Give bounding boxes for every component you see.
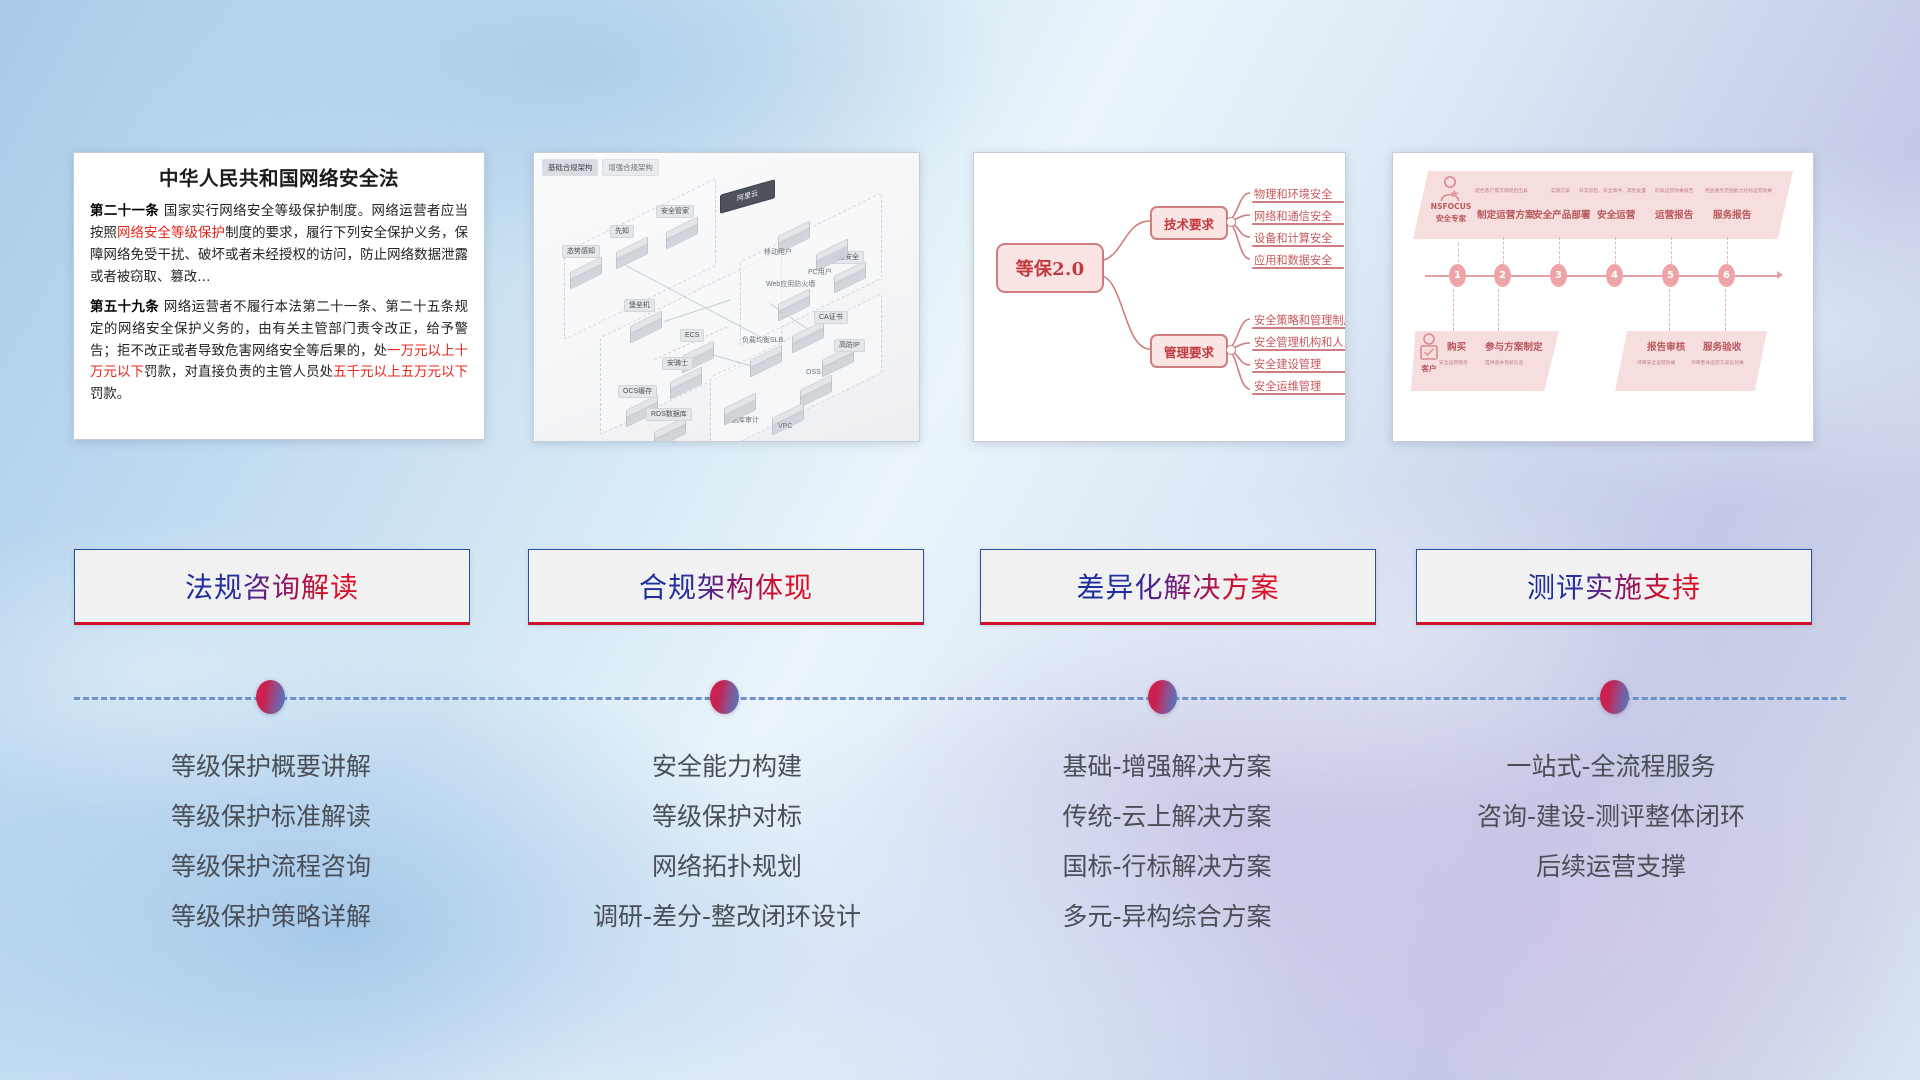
detail-item: 后续运营支撑 (1396, 842, 1826, 892)
mind-branch-technical: 技术要求 (1150, 206, 1228, 240)
arch-label-mobile-user: 移动用户 (760, 247, 796, 258)
arch-node-mobile-user (778, 225, 808, 247)
arch-node-content-security (834, 265, 864, 287)
mind-leaf-construction-mgmt: 安全建设管理 (1254, 356, 1321, 372)
card-law-text: 中华人民共和国网络安全法 第二十一条 国家实行网络安全等级保护制度。网络运营者应… (73, 152, 485, 440)
arch-node-slb (750, 349, 780, 371)
law-article-59: 第五十九条 网络运营者不履行本法第二十一条、第二十五条规定的网络安全保护义务的，… (90, 297, 468, 406)
nsf-tick-b1 (1453, 289, 1454, 331)
expert-brand-label: NSFOCUS (1423, 203, 1479, 212)
headline-box-assessment-support[interactable]: 测评实施支持 (1416, 549, 1812, 625)
nsf-tick-b6 (1725, 289, 1726, 331)
mind-leaf-network-comm: 网络和通信安全 (1254, 208, 1332, 224)
mind-leafline-ops-mgmt (1252, 393, 1346, 395)
arch-label-anqishi: 安骑士 (662, 357, 693, 370)
detail-item: 咨询-建设-测评整体闭环 (1396, 792, 1826, 842)
customer-role-label: 客户 (1415, 365, 1443, 374)
law-article-59-part3: 罚款。 (90, 387, 130, 402)
detail-item: 国标-行标解决方案 (952, 842, 1382, 892)
nsf-top-title-5: 服务报告 (1713, 207, 1751, 221)
nsf-step-1: 1 (1449, 264, 1466, 287)
arch-node-rds (654, 421, 684, 442)
mind-leafline-construction-mgmt (1252, 371, 1346, 373)
mind-leaf-policy-system: 安全策略和管理制度 (1254, 312, 1346, 328)
nsf-top-title-2: 安全产品部署 (1533, 207, 1591, 221)
arch-node-db-audit (724, 397, 754, 419)
headline-label-assessment-support: 测评实施支持 (1527, 566, 1701, 606)
card-nsfocus-timeline: NSFOCUS 安全专家 客户 1 2 3 4 5 6 结合客户需求调研后出具 … (1392, 152, 1814, 442)
arch-label-slb: 负载均衡SLB (738, 335, 787, 346)
nsf-bottom-note-2: 提供基本现状信息 (1485, 359, 1523, 366)
arch-node-bastion-host (630, 315, 660, 337)
mind-leafline-app-data (1252, 267, 1344, 269)
mind-leafline-physical-env (1252, 201, 1344, 203)
mind-collapse-dot-technical (1226, 217, 1236, 227)
law-article-59-label: 第五十九条 (90, 300, 159, 315)
detail-item: 等级保护对标 (512, 792, 942, 842)
detail-column-regulation-consulting: 等级保护概要讲解 等级保护标准解读 等级保护流程咨询 等级保护策略详解 (56, 742, 486, 942)
law-article-21: 第二十一条 国家实行网络安全等级保护制度。网络运营者应当按照网络安全等级保护制度… (90, 201, 468, 288)
mind-leaf-device-compute: 设备和计算安全 (1254, 230, 1332, 246)
timeline-dot-4 (1600, 680, 1629, 714)
mind-leafline-network-comm (1252, 223, 1344, 225)
arch-tab-basic[interactable]: 基础合规架构 (542, 159, 598, 176)
timeline-dot-2 (710, 680, 739, 714)
mind-leaf-app-data: 应用和数据安全 (1254, 252, 1332, 268)
arch-label-aliyun: 阿里云 (720, 179, 775, 214)
arch-node-situational-awareness (570, 261, 600, 283)
detail-item: 一站式-全流程服务 (1396, 742, 1826, 792)
arch-tab-enhanced[interactable]: 增强合规架构 (602, 159, 658, 176)
headline-label-differentiated-solution: 差异化解决方案 (1076, 566, 1279, 606)
detail-column-differentiated-solution: 基础-增强解决方案 传统-云上解决方案 国标-行标解决方案 多元-异构综合方案 (952, 742, 1382, 942)
arch-label-situational-awareness: 态势感知 (562, 245, 600, 258)
timeline-dot-3 (1148, 680, 1177, 714)
arch-label-ocs-cache: OCS缓存 (618, 385, 657, 398)
arch-node-anqishi (670, 371, 700, 393)
nsf-bottom-title-3: 报告审核 (1647, 339, 1685, 353)
arch-node-pc-user (816, 243, 846, 265)
arch-node-waf (778, 293, 808, 315)
arch-node-security-steward (666, 221, 696, 243)
arch-node-ca-cert (792, 325, 822, 347)
mind-collapse-dot-management (1226, 345, 1236, 355)
detail-item: 等级保护标准解读 (56, 792, 486, 842)
arch-label-vpc: VPC (774, 421, 796, 432)
nsf-bottom-title-4: 服务验收 (1703, 339, 1741, 353)
nsf-top-note-4: 阶段运营效果报告 (1655, 187, 1693, 194)
nsf-bottom-note-4: 评审整体运营方案化效果 (1691, 359, 1744, 366)
nsf-step-5: 5 (1662, 264, 1679, 287)
nsf-tick-b5 (1669, 289, 1670, 331)
detail-column-assessment-support: 一站式-全流程服务 咨询-建设-测评整体闭环 后续运营支撑 (1396, 742, 1826, 892)
customer-person-icon (1417, 333, 1441, 363)
arch-node-anti-ddos (822, 349, 852, 371)
expert-role-label: 安全专家 (1423, 215, 1479, 224)
law-article-21-highlight: 网络安全等级保护 (117, 226, 225, 241)
law-article-59-part2: 罚款，对直接负责的主管人员处 (144, 365, 333, 380)
expert-person-icon (1437, 175, 1463, 203)
card-mind-map: 等保2.0 技术要求 物理和环境安全 网络和通信安全 设备和计算安全 应用和数据… (973, 152, 1346, 442)
law-article-59-highlight-2: 五千元以上五万元以下 (333, 365, 468, 380)
detail-item: 基础-增强解决方案 (952, 742, 1382, 792)
nsf-top-title-3: 安全运营 (1597, 207, 1635, 221)
nsf-top-note-3: 日常巡检、安全事件、高危处置 (1579, 187, 1646, 194)
timeline-dashed-line (74, 697, 1846, 700)
nsf-bottom-title-1: 购买 (1447, 339, 1466, 353)
nsf-bottom-note-1: 安全运营服务 (1439, 359, 1468, 366)
law-title: 中华人民共和国网络安全法 (90, 167, 468, 190)
headline-label-compliance-architecture: 合规架构体现 (639, 566, 813, 606)
arch-tab-group: 基础合规架构 增强合规架构 (542, 159, 659, 176)
detail-item: 等级保护流程咨询 (56, 842, 486, 892)
detail-item: 网络拓扑规划 (512, 842, 942, 892)
nsf-bottom-note-3: 评审安全运营效果 (1637, 359, 1675, 366)
detail-item: 等级保护概要讲解 (56, 742, 486, 792)
nsf-step-4: 4 (1606, 264, 1623, 287)
nsf-step-6: 6 (1718, 264, 1735, 287)
mind-leafline-device-compute (1252, 245, 1344, 247)
headline-label-regulation-consulting: 法规咨询解读 (185, 566, 359, 606)
arch-label-xianzhi: 先知 (610, 225, 634, 238)
arch-label-bastion-host: 堡垒机 (624, 299, 655, 312)
nsf-tick-b2 (1498, 289, 1499, 331)
nsf-top-title-1: 制定运营方案 (1477, 207, 1535, 221)
mind-leaf-org-personnel: 安全管理机构和人员 (1254, 334, 1346, 350)
timeline-dot-1 (256, 680, 285, 714)
arch-label-rds: RDS数据库 (646, 408, 692, 421)
arch-node-oss (800, 379, 830, 401)
mind-root-node: 等保2.0 (996, 243, 1104, 293)
detail-item: 等级保护策略详解 (56, 892, 486, 942)
arch-label-ecs: ECS (680, 329, 704, 342)
mind-leafline-org-personnel (1252, 349, 1346, 351)
mind-leafline-policy-system (1252, 327, 1346, 329)
nsf-top-note-5: 检查服务范围能力达标运营效果 (1705, 187, 1772, 194)
mind-branch-management: 管理要求 (1150, 334, 1228, 368)
detail-item: 安全能力构建 (512, 742, 942, 792)
arch-label-ca-cert: CA证书 (814, 311, 848, 324)
arch-node-xianzhi (616, 241, 646, 263)
nsf-bottom-title-2: 参与方案制定 (1485, 339, 1543, 353)
headline-box-compliance-architecture[interactable]: 合规架构体现 (528, 549, 924, 625)
arch-label-anti-ddos: 高防IP (834, 339, 865, 352)
nsf-timeline-arrow-icon (1777, 271, 1783, 279)
arch-label-oss: OSS (802, 367, 825, 378)
nsf-step-3: 3 (1550, 264, 1567, 287)
nsf-top-title-4: 运营报告 (1655, 207, 1693, 221)
card-architecture-diagram: 基础合规架构 增强合规架构 阿里云 态势感知 先知 安全管家 堡垒机 ECS 安… (533, 152, 920, 442)
nsf-top-note-2: 实施方案 (1551, 187, 1570, 194)
arch-label-security-steward: 安全管家 (656, 205, 694, 218)
nsf-top-note-1: 结合客户需求调研后出具 (1475, 187, 1528, 194)
mind-leaf-ops-mgmt: 安全运维管理 (1254, 378, 1321, 394)
headline-box-differentiated-solution[interactable]: 差异化解决方案 (980, 549, 1376, 625)
law-article-21-label: 第二十一条 (90, 204, 159, 219)
mind-leaf-physical-env: 物理和环境安全 (1254, 186, 1332, 202)
detail-item: 调研-差分-整改闭环设计 (512, 892, 942, 942)
detail-item: 多元-异构综合方案 (952, 892, 1382, 942)
detail-item: 传统-云上解决方案 (952, 792, 1382, 842)
arch-label-waf: Web应用防火墙 (762, 279, 819, 290)
arch-label-pc-user: PC用户 (804, 267, 836, 278)
detail-column-compliance-architecture: 安全能力构建 等级保护对标 网络拓扑规划 调研-差分-整改闭环设计 (512, 742, 942, 942)
headline-box-regulation-consulting[interactable]: 法规咨询解读 (74, 549, 470, 625)
nsf-step-2: 2 (1494, 264, 1511, 287)
